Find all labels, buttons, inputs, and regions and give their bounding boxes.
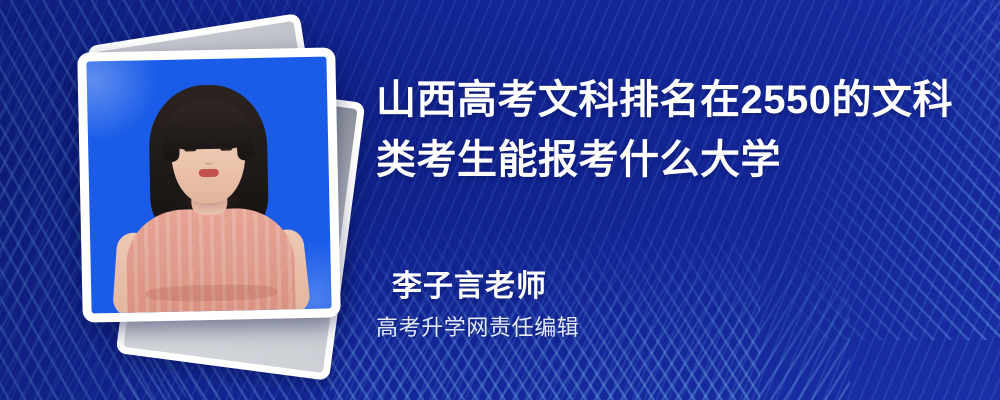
photo-card-stack [55, 22, 355, 372]
banner-text-block: 山西高考文科排名在2550的文科类考生能报考什么大学 李子言老师 高考升学网责任… [376, 0, 976, 400]
article-cover-banner: 山西高考文科排名在2550的文科类考生能报考什么大学 李子言老师 高考升学网责任… [0, 0, 1000, 400]
mouth [199, 169, 219, 177]
portrait-figure [86, 57, 331, 314]
portrait-photo [86, 57, 331, 314]
banner-title: 山西高考文科排名在2550的文科类考生能报考什么大学 [376, 70, 964, 190]
author-role: 高考升学网责任编辑 [376, 314, 579, 342]
photo-card-front [77, 47, 341, 322]
byline: 李子言老师 高考升学网责任编辑 [392, 268, 579, 342]
author-name: 李子言老师 [392, 268, 579, 306]
hair-front-icon [166, 100, 249, 150]
nose [204, 156, 212, 165]
